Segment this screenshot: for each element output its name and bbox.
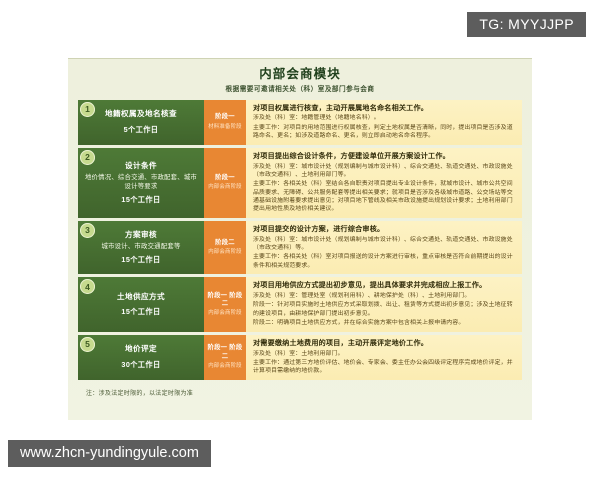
row-duration: 30个工作日	[121, 360, 160, 370]
row-phase-cell: 阶段二 内部会商阶段	[204, 221, 246, 274]
row-title: 设计条件	[125, 161, 157, 171]
poster-footnote: 注：涉及法定时限的，以法定时限为准	[68, 383, 532, 397]
row-detail-heading: 对项目用地供应方式提出初步意见，提出具体要求并完成相应上报工作。	[253, 281, 516, 291]
row-detail-line: 阶段一：针对项目实施时土地供应方式采取划拨、出让、租赁等方式提出初步意见；涉及土…	[253, 301, 516, 318]
site-watermark-badge: www.zhcn-yundingyule.com	[8, 440, 211, 468]
row-detail-line: 涉及处（科）室：地籍管理处（地籍地名科）。	[253, 114, 516, 122]
row-stage-name-cell: 土地供应方式 15个工作日	[78, 277, 204, 331]
row-detail-cell: 对需要缴纳土地费用的项目，主动开展评定地价工作。 涉及处（科）室：土地利用部门。…	[246, 335, 522, 380]
row-phase-label: 内部会商阶段	[208, 184, 242, 191]
row-title: 土地供应方式	[117, 292, 165, 302]
table-row: 5 地价评定 30个工作日 阶段一 阶段二 内部会商阶段 对需要缴纳土地费用的项…	[78, 335, 522, 380]
row-number-badge: 3	[80, 223, 95, 238]
row-phase-label: 材料准备阶段	[208, 124, 242, 131]
row-desc: 城市设计、市政交通配套等	[101, 242, 180, 251]
row-stage-label: 阶段一 阶段二	[206, 292, 244, 308]
row-detail-line: 涉及处（科）室：城市设计处（规划编制与城市设计科）、综合交通处、轨道交通处、市政…	[253, 236, 516, 253]
row-phase-cell: 阶段一 材料准备阶段	[204, 100, 246, 145]
table-row: 1 地籍权属及地名核查 5个工作日 阶段一 材料准备阶段 对项目权属进行核查，主…	[78, 100, 522, 145]
row-duration: 15个工作日	[121, 307, 160, 317]
row-desc: 地价情况、综合交通、市政配套、城市设计等要求	[83, 173, 199, 192]
table-row: 4 土地供应方式 15个工作日 阶段一 阶段二 内部会商阶段 对项目用地供应方式…	[78, 277, 522, 331]
poster-header: 内部会商模块 根据需要可邀请相关处（科）室及部门参与会商	[68, 59, 532, 100]
table-row: 2 设计条件 地价情况、综合交通、市政配套、城市设计等要求 15个工作日 阶段一…	[78, 148, 522, 218]
row-detail-line: 主要工作：对项目的用地范围进行权属核查，判定土地权属是否清晰，同时，提出项目是否…	[253, 124, 516, 141]
row-title: 地价评定	[125, 344, 157, 354]
row-stage-name-cell: 设计条件 地价情况、综合交通、市政配套、城市设计等要求 15个工作日	[78, 148, 204, 218]
poster-panel: 内部会商模块 根据需要可邀请相关处（科）室及部门参与会商 1 地籍权属及地名核查…	[68, 58, 532, 420]
row-title: 地籍权属及地名核查	[105, 109, 177, 119]
row-stage-name-cell: 地籍权属及地名核查 5个工作日	[78, 100, 204, 145]
row-stage-label: 阶段一	[215, 113, 235, 121]
row-phase-cell: 阶段一 阶段二 内部会商阶段	[204, 335, 246, 380]
row-number-badge: 5	[80, 337, 95, 352]
row-stage-name-cell: 方案审核 城市设计、市政交通配套等 15个工作日	[78, 221, 204, 274]
row-number-badge: 1	[80, 102, 95, 117]
page-title: 内部会商模块	[68, 67, 532, 83]
row-detail-cell: 对项目权属进行核查，主动开展属地名命名相关工作。 涉及处（科）室：地籍管理处（地…	[246, 100, 522, 145]
row-detail-heading: 对需要缴纳土地费用的项目，主动开展评定地价工作。	[253, 339, 516, 349]
row-phase-label: 内部会商阶段	[208, 310, 242, 317]
row-number-badge: 2	[80, 150, 95, 165]
row-detail-cell: 对项目提出综合设计条件，方便建设单位开展方案设计工作。 涉及处（科）室：城市设计…	[246, 148, 522, 218]
row-duration: 15个工作日	[121, 195, 160, 205]
row-stage-label: 阶段一	[215, 174, 235, 182]
process-row-list: 1 地籍权属及地名核查 5个工作日 阶段一 材料准备阶段 对项目权属进行核查，主…	[68, 100, 532, 380]
row-phase-label: 内部会商阶段	[208, 363, 242, 370]
row-phase-cell: 阶段一 内部会商阶段	[204, 148, 246, 218]
tg-watermark-badge: TG: MYYJJPP	[467, 12, 586, 37]
row-detail-line: 涉及处（科）室：管理处室（规划利用科）、耕地保护处（科）、土地利用部门。	[253, 292, 516, 300]
row-stage-label: 阶段一 阶段二	[206, 344, 244, 360]
row-stage-label: 阶段二	[215, 239, 235, 247]
row-detail-line: 涉及处（科）室：城市设计处（规划编制与城市设计科）、综合交通处、轨道交通处、市政…	[253, 163, 516, 180]
row-detail-line: 主要工作：通过第三方地价评估、地价会、专家会、委主任办公会四级评定程序完成地价评…	[253, 359, 516, 376]
row-duration: 15个工作日	[121, 255, 160, 265]
row-detail-heading: 对项目权属进行核查，主动开展属地名命名相关工作。	[253, 104, 516, 114]
row-stage-name-cell: 地价评定 30个工作日	[78, 335, 204, 380]
row-detail-line: 阶段二：明确项目土地供应方式，并在综合实施方案中包含相关上报申请内容。	[253, 319, 516, 327]
row-detail-cell: 对项目提交的设计方案，进行综合审核。 涉及处（科）室：城市设计处（规划编制与城市…	[246, 221, 522, 274]
row-detail-line: 涉及处（科）室：土地利用部门。	[253, 350, 516, 358]
row-detail-heading: 对项目提出综合设计条件，方便建设单位开展方案设计工作。	[253, 152, 516, 162]
row-phase-label: 内部会商阶段	[208, 249, 242, 256]
row-detail-cell: 对项目用地供应方式提出初步意见，提出具体要求并完成相应上报工作。 涉及处（科）室…	[246, 277, 522, 331]
page-subtitle: 根据需要可邀请相关处（科）室及部门参与会商	[68, 86, 532, 94]
row-duration: 5个工作日	[124, 125, 159, 135]
row-title: 方案审核	[125, 230, 157, 240]
row-phase-cell: 阶段一 阶段二 内部会商阶段	[204, 277, 246, 331]
row-detail-line: 主要工作：各相关处（科）室结合各自职责对项目提出专业设计条件，就城市设计、城市公…	[253, 180, 516, 214]
table-row: 3 方案审核 城市设计、市政交通配套等 15个工作日 阶段二 内部会商阶段 对项…	[78, 221, 522, 274]
row-detail-line: 主要工作：各相关处（科）室对项目报送的设计方案进行审核，重点审核是否符合前期提出…	[253, 253, 516, 270]
row-detail-heading: 对项目提交的设计方案，进行综合审核。	[253, 225, 516, 235]
